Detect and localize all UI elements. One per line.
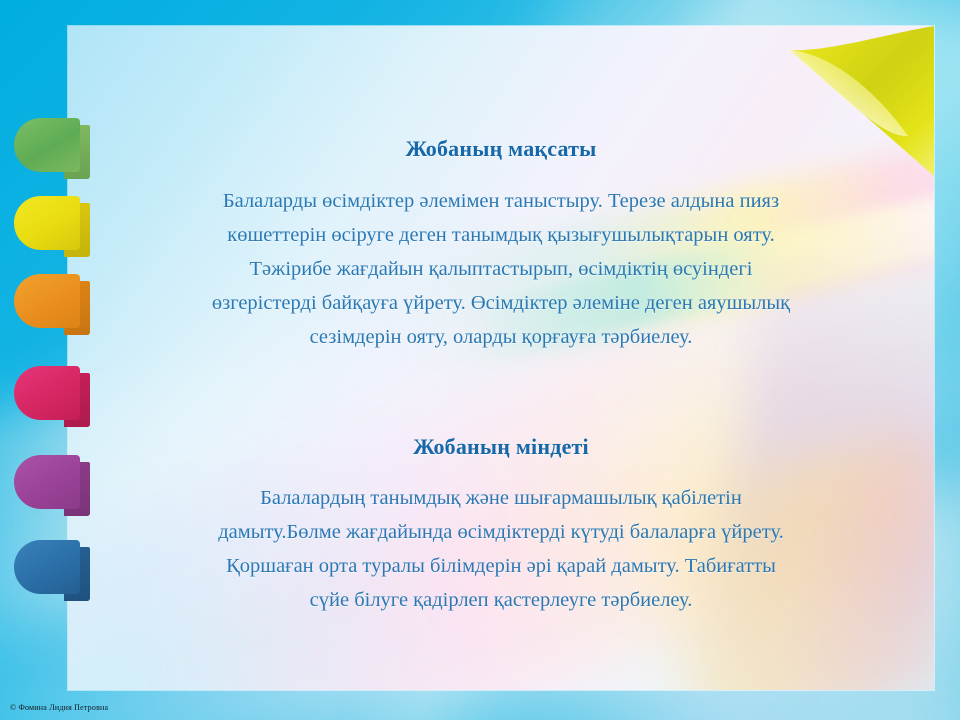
section-body-task: Балалардың танымдық және шығармашылық қа… — [154, 481, 848, 617]
task-text-line-1: Балалардың танымдық және шығармашылық қа… — [154, 481, 848, 515]
task-text-line-4: сүйе білуге қадірлеп қастерлеуге тәрбиел… — [154, 583, 848, 617]
bookmark-tab-orange[interactable] — [14, 274, 90, 328]
presentation-slide: Жобаның мақсаты Балаларды өсімдіктер әле… — [0, 0, 960, 720]
bookmark-face-orange — [14, 274, 80, 328]
goal-text-line-5: сезімдерін ояту, оларды қорғауға тәрбиел… — [154, 320, 848, 354]
goal-text-line-3: Тәжірибе жағдайын қалыптастырып, өсімдік… — [154, 252, 848, 286]
content-card: Жобаның мақсаты Балаларды өсімдіктер әле… — [68, 26, 934, 690]
task-text-line-2: дамыту.Бөлме жағдайында өсімдіктерді күт… — [154, 515, 848, 549]
bookmark-face-blue — [14, 540, 80, 594]
section-body-goal: Балаларды өсімдіктер әлемімен таныстыру.… — [154, 184, 848, 354]
bookmark-face-green — [14, 118, 80, 172]
bookmark-face-purple — [14, 455, 80, 509]
bookmark-tab-blue[interactable] — [14, 540, 90, 594]
copyright-watermark: © Фомина Лидия Петровна — [10, 703, 108, 712]
bookmark-face-pink — [14, 366, 80, 420]
bookmark-tab-yellow[interactable] — [14, 196, 90, 250]
goal-text-line-1: Балаларды өсімдіктер әлемімен таныстыру.… — [154, 184, 848, 218]
task-text-line-3: Қоршаған орта туралы білімдерін әрі қара… — [154, 549, 848, 583]
bookmark-tab-purple[interactable] — [14, 455, 90, 509]
goal-text-line-2: көшеттерін өсіруге деген танымдық қызығу… — [154, 218, 848, 252]
bookmark-face-yellow — [14, 196, 80, 250]
bookmark-tab-green[interactable] — [14, 118, 90, 172]
goal-text-line-4: өзгерістерді байқауға үйрету. Өсімдіктер… — [154, 286, 848, 320]
section-heading-task: Жобаның міндеті — [68, 434, 934, 460]
section-heading-goal: Жобаның мақсаты — [68, 136, 934, 162]
bookmark-tab-pink[interactable] — [14, 366, 90, 420]
slide-content: Жобаның мақсаты Балаларды өсімдіктер әле… — [68, 26, 934, 690]
